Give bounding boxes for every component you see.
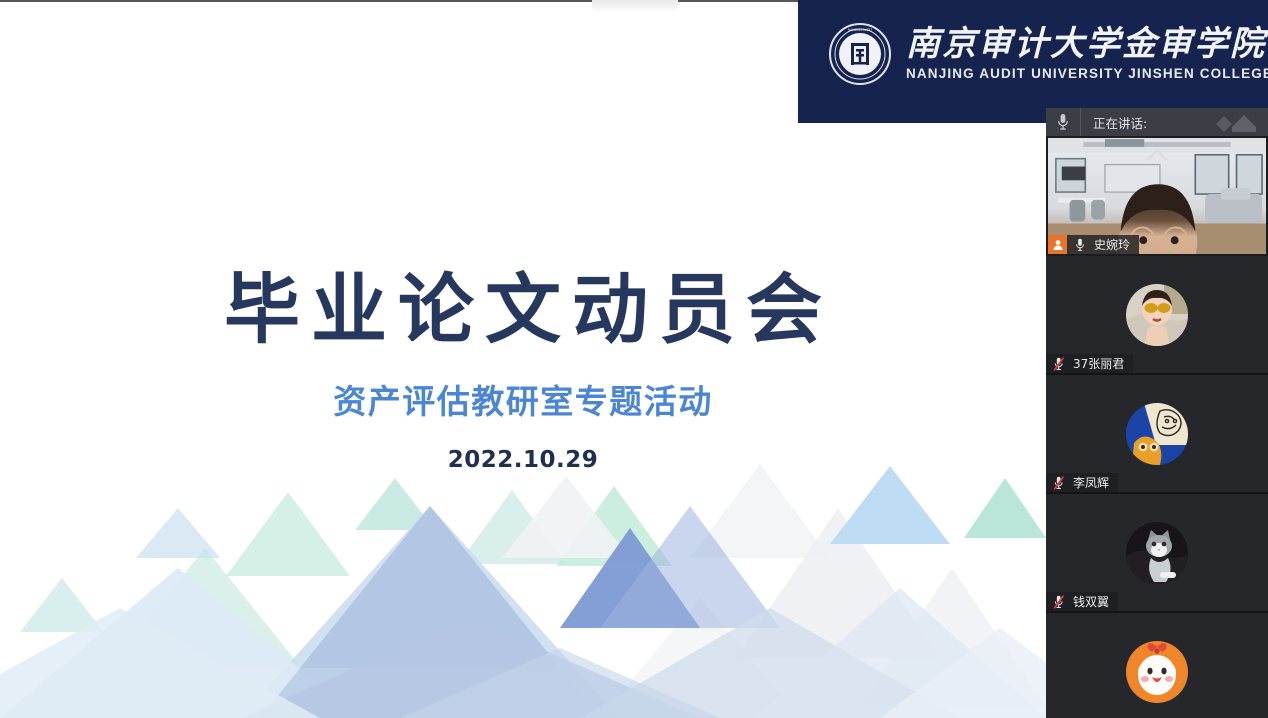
university-name-en: NANJING AUDIT UNIVERSITY JINSHEN COLLEGE [906, 66, 1268, 81]
screen-share-meeting-window: 毕业论文动员会 资产评估教研室专题活动 2022.10.29 [0, 0, 1268, 718]
university-name-cn: 南京审计大学金审学院 [906, 27, 1268, 63]
microphone-muted-icon [1050, 473, 1068, 492]
participant-name: 李凤辉 [1073, 474, 1109, 491]
microphone-icon [1071, 235, 1089, 254]
meeting-toolbar-handle[interactable] [592, 0, 678, 12]
slide-date: 2022.10.29 [0, 449, 1046, 472]
participant-namebar: 钱双翼 [1046, 592, 1118, 611]
participant-namebar: 史婉玲 [1048, 235, 1139, 254]
participant-tile[interactable]: 李凤辉 [1046, 375, 1268, 494]
avatar-illustration-blue [1126, 403, 1188, 465]
participant-namebar: 李凤辉 [1046, 473, 1118, 492]
slide-subtitle: 资产评估教研室专题活动 [0, 385, 1046, 418]
slide-title: 毕业论文动员会 [0, 272, 1046, 348]
active-speaker-header: 正在讲话: [1046, 108, 1268, 136]
microphone-muted-icon [1050, 592, 1068, 611]
university-banner: NANJING AUDIT 南京审计大学金审学院 NANJING AUDIT U… [798, 0, 1268, 123]
chevron-up-icon [1144, 147, 1170, 163]
host-person-icon [1048, 235, 1067, 254]
participant-filmstrip: 正在讲话: [1046, 108, 1268, 718]
svg-text:NANJING AUDIT: NANJING AUDIT [848, 28, 872, 32]
microphone-muted-icon [1050, 354, 1068, 373]
avatar-orange-cartoon-rabbit [1126, 641, 1188, 703]
participant-tile[interactable]: 钱双翼 [1046, 494, 1268, 613]
participant-tile[interactable] [1046, 613, 1268, 718]
microphone-icon [1046, 108, 1081, 136]
collapse-chevrons-icon[interactable] [1214, 112, 1260, 132]
participant-name: 37张丽君 [1073, 355, 1124, 372]
active-speaker-label: 正在讲话: [1093, 113, 1147, 132]
participant-name: 史婉玲 [1094, 236, 1130, 253]
participant-tile-active[interactable]: 史婉玲 [1046, 136, 1268, 256]
participant-tile[interactable]: 37张丽君 [1046, 256, 1268, 375]
avatar-cat [1126, 522, 1188, 584]
university-seal-logo: NANJING AUDIT [828, 22, 892, 86]
avatar-sunglasses-woman [1126, 284, 1188, 346]
participant-name: 钱双翼 [1073, 593, 1109, 610]
participant-namebar: 37张丽君 [1046, 354, 1133, 373]
